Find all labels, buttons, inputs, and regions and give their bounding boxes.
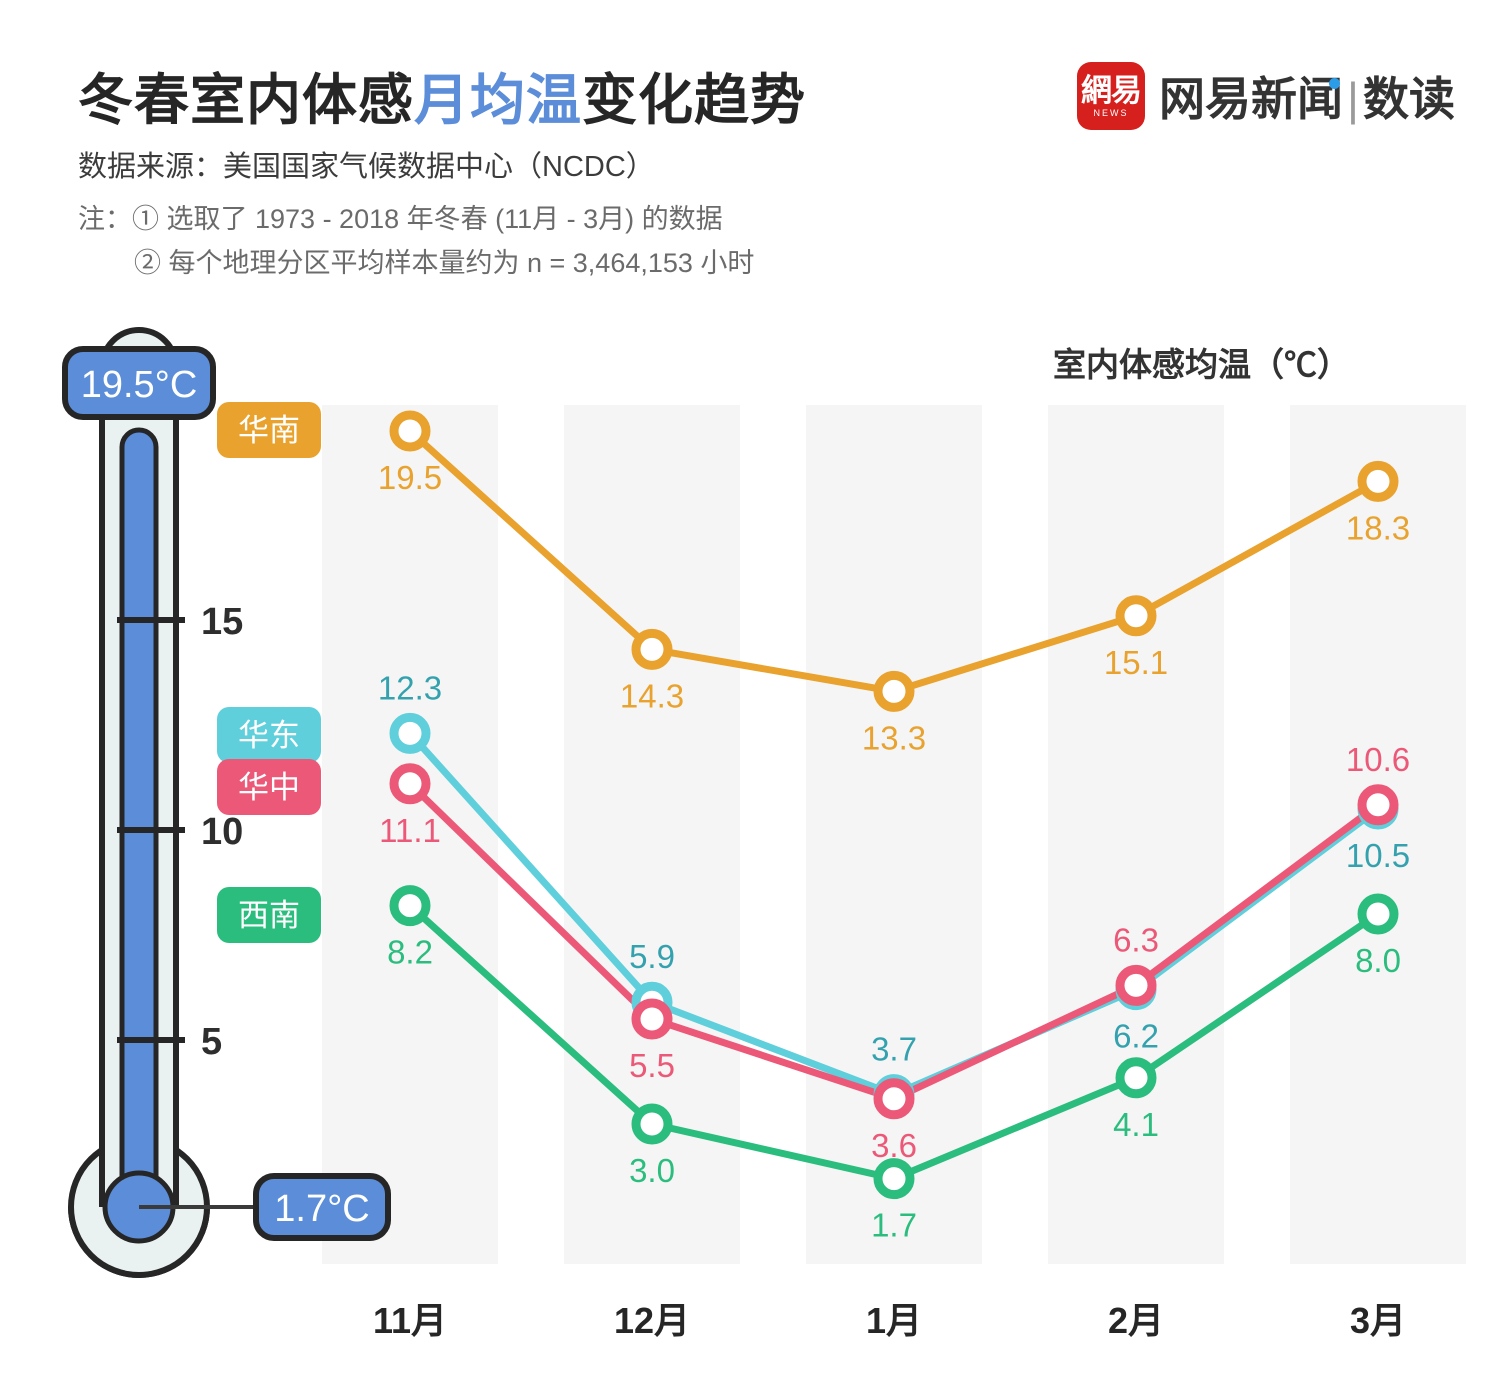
data-point-西南-1月[interactable] bbox=[878, 1163, 910, 1195]
y-axis-tick-label: 5 bbox=[201, 1021, 222, 1063]
data-label-西南-2月: 4.1 bbox=[1113, 1106, 1159, 1143]
data-point-华东-11月[interactable] bbox=[394, 717, 426, 749]
data-label-华东-11月: 12.3 bbox=[378, 669, 442, 706]
legend-badge-label: 华南 bbox=[238, 413, 300, 448]
data-label-西南-3月: 8.0 bbox=[1355, 942, 1401, 979]
marker-ring bbox=[636, 1108, 668, 1140]
data-point-西南-12月[interactable] bbox=[636, 1108, 668, 1140]
data-label-华东-12月: 5.9 bbox=[629, 938, 675, 975]
data-point-华中-12月[interactable] bbox=[636, 1003, 668, 1035]
x-axis-label-2月: 2月 bbox=[1108, 1300, 1164, 1341]
data-label-西南-1月: 1.7 bbox=[871, 1207, 917, 1244]
chart-canvas: 19.5°C1.7°C 51015 19.514.313.315.118.312… bbox=[0, 0, 1501, 1374]
data-point-华南-1月[interactable] bbox=[878, 675, 910, 707]
y-axis-tick-label: 10 bbox=[201, 811, 243, 853]
data-label-华中-11月: 11.1 bbox=[379, 812, 441, 849]
marker-ring bbox=[1120, 969, 1152, 1001]
data-point-华南-12月[interactable] bbox=[636, 633, 668, 665]
data-point-华南-11月[interactable] bbox=[394, 415, 426, 447]
data-label-西南-11月: 8.2 bbox=[387, 934, 433, 971]
data-label-华中-12月: 5.5 bbox=[629, 1047, 675, 1084]
data-point-华中-11月[interactable] bbox=[394, 768, 426, 800]
marker-ring bbox=[394, 768, 426, 800]
chart-legend: 华南华东华中西南 bbox=[217, 402, 321, 943]
marker-ring bbox=[1120, 600, 1152, 632]
data-label-华东-3月: 10.5 bbox=[1346, 837, 1410, 874]
legend-item-华南[interactable]: 华南 bbox=[217, 402, 321, 458]
legend-item-华东[interactable]: 华东 bbox=[217, 707, 321, 763]
data-label-华东-2月: 6.2 bbox=[1113, 1018, 1159, 1055]
data-point-华南-3月[interactable] bbox=[1362, 465, 1394, 497]
x-axis: 11月12月1月2月3月 bbox=[373, 1300, 1406, 1341]
marker-ring bbox=[878, 675, 910, 707]
data-point-西南-11月[interactable] bbox=[394, 890, 426, 922]
marker-ring bbox=[636, 633, 668, 665]
data-point-华南-2月[interactable] bbox=[1120, 600, 1152, 632]
marker-ring bbox=[394, 890, 426, 922]
data-label-华中-2月: 6.3 bbox=[1113, 921, 1159, 958]
thermometer-max-badge-text: 19.5°C bbox=[81, 364, 198, 406]
data-label-华东-1月: 3.7 bbox=[871, 1031, 917, 1068]
data-label-华中-1月: 3.6 bbox=[871, 1127, 917, 1164]
marker-ring bbox=[1120, 1062, 1152, 1094]
marker-ring bbox=[1362, 898, 1394, 930]
marker-ring bbox=[878, 1163, 910, 1195]
data-label-华南-11月: 19.5 bbox=[378, 459, 442, 496]
data-point-华中-3月[interactable] bbox=[1362, 789, 1394, 821]
data-label-华南-3月: 18.3 bbox=[1346, 509, 1410, 546]
data-label-华中-3月: 10.6 bbox=[1346, 741, 1410, 778]
data-label-华南-12月: 14.3 bbox=[620, 677, 684, 714]
legend-item-西南[interactable]: 西南 bbox=[217, 887, 321, 943]
data-label-西南-12月: 3.0 bbox=[629, 1152, 675, 1189]
marker-ring bbox=[636, 1003, 668, 1035]
y-axis-tick-label: 15 bbox=[201, 601, 243, 643]
data-label-华南-2月: 15.1 bbox=[1104, 644, 1168, 681]
x-axis-label-1月: 1月 bbox=[866, 1300, 922, 1341]
marker-ring bbox=[1362, 789, 1394, 821]
thermometer-min-badge-text: 1.7°C bbox=[274, 1188, 369, 1230]
data-point-华中-1月[interactable] bbox=[878, 1083, 910, 1115]
legend-badge-label: 华中 bbox=[238, 770, 300, 805]
data-label-华南-1月: 13.3 bbox=[862, 719, 926, 756]
data-point-西南-2月[interactable] bbox=[1120, 1062, 1152, 1094]
data-point-华中-2月[interactable] bbox=[1120, 969, 1152, 1001]
marker-ring bbox=[394, 415, 426, 447]
marker-ring bbox=[878, 1083, 910, 1115]
legend-badge-label: 华东 bbox=[238, 718, 300, 753]
legend-badge-label: 西南 bbox=[238, 898, 300, 933]
x-axis-label-11月: 11月 bbox=[373, 1300, 447, 1341]
marker-ring bbox=[394, 717, 426, 749]
x-axis-label-3月: 3月 bbox=[1350, 1300, 1406, 1341]
data-point-西南-3月[interactable] bbox=[1362, 898, 1394, 930]
x-axis-label-12月: 12月 bbox=[614, 1300, 690, 1341]
marker-ring bbox=[1362, 465, 1394, 497]
thermometer-mercury-column bbox=[122, 430, 156, 1207]
legend-item-华中[interactable]: 华中 bbox=[217, 759, 321, 815]
